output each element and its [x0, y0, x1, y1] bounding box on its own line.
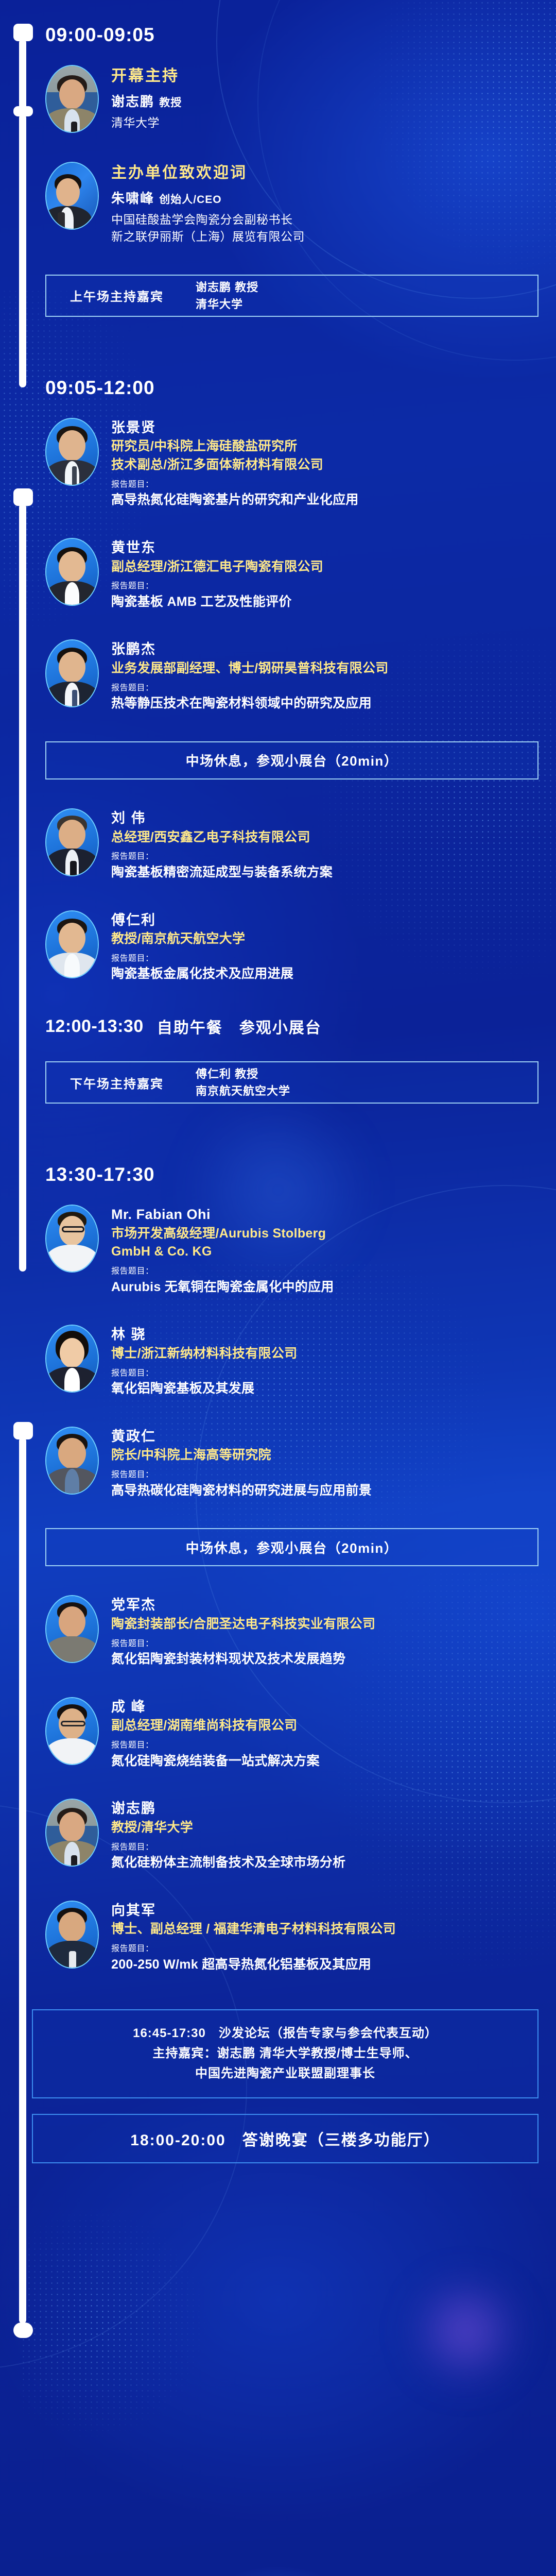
agenda-page: 09:00-09:05 开幕主持 谢志鹏 教授 清华大学	[0, 0, 556, 2205]
avatar	[45, 538, 99, 606]
agenda-item-speaker[interactable]: 向其军 博士、副总经理 / 福建华清电子材料科技有限公司 报告题目： 200-2…	[0, 1901, 556, 1974]
agenda-item-speaker[interactable]: 谢志鹏 教授/清华大学 报告题目： 氮化硅粉体主流制备技术及全球市场分析	[0, 1799, 556, 1872]
portrait-fabian-ohi	[46, 1206, 98, 1272]
lunch-label: 自助午餐 参观小展台	[157, 1015, 322, 1038]
talk-title: 陶瓷基板金属化技术及应用进展	[111, 965, 535, 983]
portrait-linxiao	[46, 1326, 98, 1392]
talk-title: 高导热氮化硅陶瓷基片的研究和产业化应用	[111, 492, 535, 509]
opening-speaker-suffix: 创始人/CEO	[159, 194, 221, 206]
break-box[interactable]: 中场休息，参观小展台（20min）	[45, 741, 538, 779]
timeline-rail	[19, 114, 26, 387]
timeline-end-cap	[13, 2323, 33, 2338]
bottom-light-fan	[196, 2567, 360, 2576]
agenda-item-text: 刘 伟 总经理/西安鑫乙电子科技有限公司 报告题目： 陶瓷基板精密流延成型与装备…	[111, 808, 535, 882]
agenda-item-text: 开幕主持 谢志鹏 教授 清华大学	[111, 65, 535, 133]
avatar	[45, 1427, 99, 1495]
portrait-zhangpengjie	[46, 640, 98, 706]
talk-title: 热等静压技术在陶瓷材料领域中的研究及应用	[111, 695, 535, 713]
agenda-item-speaker[interactable]: Mr. Fabian Ohi 市场开发高级经理/Aurubis Stolberg…	[0, 1205, 556, 1296]
afternoon-chair-box[interactable]: 下午场主持嘉宾 傅仁利 教授 南京航天航空大学	[45, 1061, 538, 1104]
afternoon-chair-label: 下午场主持嘉宾	[70, 1074, 164, 1092]
talk-title: 氮化铝陶瓷封装材料现状及技术发展趋势	[111, 1651, 535, 1668]
timeline-start-cap	[13, 488, 33, 506]
afternoon-chair-info: 傅仁利 教授 南京航天航空大学	[196, 1065, 290, 1099]
agenda-item-text: 傅仁利 教授/南京航天航空大学 报告题目： 陶瓷基板金属化技术及应用进展	[111, 910, 535, 984]
avatar	[45, 1325, 99, 1393]
talk-label: 报告题目：	[111, 1740, 535, 1751]
agenda-item-speaker[interactable]: 黄世东 副总经理/浙江德汇电子陶瓷有限公司 报告题目： 陶瓷基板 AMB 工艺及…	[0, 538, 556, 611]
speaker-name: 黄政仁	[111, 1428, 535, 1446]
break-box[interactable]: 中场休息，参观小展台（20min）	[45, 1528, 538, 1566]
salon-line-2: 主持嘉宾：谢志鹏 清华大学教授/博士生导师、	[43, 2044, 527, 2064]
talk-title: 氮化硅陶瓷烧结装备一站式解决方案	[111, 1753, 535, 1770]
talk-label: 报告题目：	[111, 1368, 535, 1379]
opening-title: 主办单位致欢迎词	[111, 163, 535, 183]
speaker-role-line2: GmbH & Co. KG	[111, 1243, 535, 1261]
avatar	[45, 65, 99, 133]
avatar	[45, 1799, 99, 1867]
timeline-start-cap	[13, 24, 33, 41]
talk-title: Aurubis 无氧铜在陶瓷金属化中的应用	[111, 1279, 535, 1296]
agenda-item-speaker[interactable]: 傅仁利 教授/南京航天航空大学 报告题目： 陶瓷基板金属化技术及应用进展	[0, 910, 556, 984]
agenda-item-speaker[interactable]: 张景贤 研究员/中科院上海硅酸盐研究所 技术副总/浙江多面体新材料有限公司 报告…	[0, 418, 556, 509]
speaker-role-line1: 副总经理/浙江德汇电子陶瓷有限公司	[111, 558, 535, 576]
talk-title: 200-250 W/mk 超高导热氮化铝基板及其应用	[111, 1956, 535, 1974]
portrait-xiangqijun	[46, 1902, 98, 1968]
session-time: 09:05-12:00	[45, 377, 155, 399]
avatar	[45, 418, 99, 486]
agenda-item-speaker[interactable]: 刘 伟 总经理/西安鑫乙电子科技有限公司 报告题目： 陶瓷基板精密流延成型与装备…	[0, 808, 556, 882]
opening-speaker-name: 朱啸峰 创始人/CEO	[111, 188, 535, 207]
avatar	[45, 1595, 99, 1663]
speaker-role-line1: 总经理/西安鑫乙电子科技有限公司	[111, 829, 535, 846]
speaker-role-line1: 副总经理/湖南维尚科技有限公司	[111, 1717, 535, 1735]
speaker-name: 刘 伟	[111, 809, 535, 828]
salon-line-3: 中国先进陶瓷产业联盟副理事长	[43, 2064, 527, 2084]
portrait-xiezhipeng	[46, 66, 98, 132]
opening-title: 开幕主持	[111, 66, 535, 86]
speaker-role-line1: 院长/中科院上海高等研究院	[111, 1447, 535, 1464]
speaker-name: 黄世东	[111, 539, 535, 557]
talk-title: 高导热碳化硅陶瓷材料的研究进展与应用前景	[111, 1482, 535, 1500]
talk-label: 报告题目：	[111, 1943, 535, 1955]
afternoon-chair-org: 南京航天航空大学	[196, 1082, 290, 1099]
timeline-rail	[19, 504, 26, 1272]
portrait-huangshidong	[46, 539, 98, 605]
avatar	[45, 639, 99, 707]
lunch-time: 12:00-13:30	[45, 1016, 144, 1037]
session-time: 09:00-09:05	[45, 24, 155, 46]
avatar	[45, 808, 99, 876]
portrait-zhuxiaofeng	[46, 163, 98, 229]
lunch-row: 12:00-13:30 自助午餐 参观小展台	[0, 1012, 556, 1041]
opening-speaker-org-line1: 中国硅酸盐学会陶瓷分会副秘书长	[111, 211, 535, 228]
avatar	[45, 1697, 99, 1765]
salon-forum-box[interactable]: 16:45-17:30 沙发论坛（报告专家与参会代表互动） 主持嘉宾：谢志鹏 清…	[32, 2009, 538, 2098]
talk-label: 报告题目：	[111, 683, 535, 694]
session-time: 13:30-17:30	[45, 1164, 155, 1185]
agenda-item-text: 林 骁 博士/浙江新纳材料科技有限公司 报告题目： 氧化铝陶瓷基板及其发展	[111, 1325, 535, 1398]
avatar	[45, 910, 99, 978]
speaker-role-line1: 博士/浙江新纳材料科技有限公司	[111, 1345, 535, 1363]
agenda-item-text: 谢志鹏 教授/清华大学 报告题目： 氮化硅粉体主流制备技术及全球市场分析	[111, 1799, 535, 1872]
talk-title: 陶瓷基板 AMB 工艺及性能评价	[111, 594, 535, 611]
agenda-item-opening-host[interactable]: 开幕主持 谢志鹏 教授 清华大学	[0, 65, 556, 133]
speaker-name: 党军杰	[111, 1596, 535, 1615]
agenda-item-text: 张鹏杰 业务发展部副经理、博士/钢研昊普科技有限公司 报告题目： 热等静压技术在…	[111, 639, 535, 713]
portrait-chengfeng	[46, 1698, 98, 1764]
timeline-rail	[19, 39, 26, 110]
portrait-xiezhipeng	[46, 1800, 98, 1866]
talk-label: 报告题目：	[111, 1638, 535, 1650]
speaker-name: 林 骁	[111, 1326, 535, 1344]
agenda-item-text: Mr. Fabian Ohi 市场开发高级经理/Aurubis Stolberg…	[111, 1205, 535, 1296]
opening-speaker-org-line2: 新之联伊丽斯（上海）展览有限公司	[111, 228, 535, 245]
portrait-zhangjingxian	[46, 419, 98, 485]
opening-speaker-org: 清华大学	[111, 114, 535, 131]
morning-chair-label: 上午场主持嘉宾	[70, 286, 164, 304]
talk-label: 报告题目：	[111, 953, 535, 964]
dinner-box[interactable]: 18:00-20:00 答谢晚宴（三楼多功能厅）	[32, 2114, 538, 2163]
agenda-item-speaker[interactable]: 张鹏杰 业务发展部副经理、博士/钢研昊普科技有限公司 报告题目： 热等静压技术在…	[0, 639, 556, 713]
agenda-item-text: 黄政仁 院长/中科院上海高等研究院 报告题目： 高导热碳化硅陶瓷材料的研究进展与…	[111, 1427, 535, 1500]
purple-glow	[407, 2277, 525, 2385]
talk-title: 氮化硅粉体主流制备技术及全球市场分析	[111, 1854, 535, 1872]
afternoon-chair-name: 傅仁利 教授	[196, 1065, 290, 1082]
agenda-item-text: 黄世东 副总经理/浙江德汇电子陶瓷有限公司 报告题目： 陶瓷基板 AMB 工艺及…	[111, 538, 535, 611]
opening-speaker-name: 谢志鹏 教授	[111, 91, 535, 110]
talk-title: 陶瓷基板精密流延成型与装备系统方案	[111, 864, 535, 882]
agenda-item-speaker[interactable]: 党军杰 陶瓷封装部长/合肥圣达电子科技实业有限公司 报告题目： 氮化铝陶瓷封装材…	[0, 1595, 556, 1668]
session-time-heading: 13:30-17:30	[0, 1160, 556, 1189]
session-time-heading: 09:05-12:00	[0, 374, 556, 402]
avatar	[45, 162, 99, 230]
speaker-role-line2: 技术副总/浙江多面体新材料有限公司	[111, 456, 535, 474]
speaker-name: 傅仁利	[111, 911, 535, 930]
portrait-liuwei	[46, 809, 98, 875]
morning-chair-org: 清华大学	[196, 296, 258, 313]
timeline-start-cap	[13, 1422, 33, 1439]
speaker-role-line1: 教授/南京航天航空大学	[111, 930, 535, 948]
agenda-item-speaker[interactable]: 林 骁 博士/浙江新纳材料科技有限公司 报告题目： 氧化铝陶瓷基板及其发展	[0, 1325, 556, 1398]
talk-label: 报告题目：	[111, 1266, 535, 1277]
morning-chair-box[interactable]: 上午场主持嘉宾 谢志鹏 教授 清华大学	[45, 275, 538, 317]
salon-line-1: 16:45-17:30 沙发论坛（报告专家与参会代表互动）	[43, 2024, 527, 2044]
talk-label: 报告题目：	[111, 1842, 535, 1853]
speaker-name: 成 峰	[111, 1698, 535, 1717]
agenda-item-text: 主办单位致欢迎词 朱啸峰 创始人/CEO 中国硅酸盐学会陶瓷分会副秘书长 新之联…	[111, 162, 535, 246]
speaker-role-line1: 业务发展部副经理、博士/钢研昊普科技有限公司	[111, 660, 535, 677]
morning-chair-info: 谢志鹏 教授 清华大学	[196, 279, 258, 313]
speaker-role-line1: 教授/清华大学	[111, 1819, 535, 1837]
session-time-heading: 09:00-09:05	[0, 21, 556, 49]
speaker-name: Mr. Fabian Ohi	[111, 1206, 535, 1224]
agenda-item-text: 张景贤 研究员/中科院上海硅酸盐研究所 技术副总/浙江多面体新材料有限公司 报告…	[111, 418, 535, 509]
timeline-node	[13, 106, 33, 116]
opening-speaker-suffix: 教授	[159, 97, 182, 109]
talk-title: 氧化铝陶瓷基板及其发展	[111, 1380, 535, 1398]
avatar	[45, 1901, 99, 1969]
speaker-role-line1: 研究员/中科院上海硅酸盐研究所	[111, 438, 535, 455]
dot-pattern	[21, 2190, 227, 2458]
agenda-item-text: 向其军 博士、副总经理 / 福建华清电子材料科技有限公司 报告题目： 200-2…	[111, 1901, 535, 1974]
agenda-item-text: 党军杰 陶瓷封装部长/合肥圣达电子科技实业有限公司 报告题目： 氮化铝陶瓷封装材…	[111, 1595, 535, 1668]
timeline-rail	[19, 1437, 26, 2324]
agenda-item-text: 成 峰 副总经理/湖南维尚科技有限公司 报告题目： 氮化硅陶瓷烧结装备一站式解决…	[111, 1697, 535, 1770]
speaker-name: 张景贤	[111, 419, 535, 437]
morning-chair-name: 谢志鹏 教授	[196, 279, 258, 296]
portrait-dangjunjie	[46, 1596, 98, 1662]
talk-label: 报告题目：	[111, 851, 535, 862]
speaker-name: 向其军	[111, 1902, 535, 1920]
speaker-role-line1: 陶瓷封装部长/合肥圣达电子科技实业有限公司	[111, 1616, 535, 1633]
talk-label: 报告题目：	[111, 479, 535, 490]
agenda-item-speaker[interactable]: 黄政仁 院长/中科院上海高等研究院 报告题目： 高导热碳化硅陶瓷材料的研究进展与…	[0, 1427, 556, 1500]
dinner-text: 18:00-20:00 答谢晚宴（三楼多功能厅）	[130, 2127, 440, 2150]
speaker-role-line1: 博士、副总经理 / 福建华清电子材料科技有限公司	[111, 1921, 535, 1938]
speaker-name: 张鹏杰	[111, 640, 535, 659]
speaker-name: 谢志鹏	[111, 1800, 535, 1818]
portrait-huangzhengren	[46, 1428, 98, 1494]
speaker-role-line1: 市场开发高级经理/Aurubis Stolberg	[111, 1225, 535, 1243]
talk-label: 报告题目：	[111, 581, 535, 592]
avatar	[45, 1205, 99, 1273]
break-text: 中场休息，参观小展台（20min）	[186, 751, 398, 770]
talk-label: 报告题目：	[111, 1469, 535, 1481]
agenda-item-speaker[interactable]: 成 峰 副总经理/湖南维尚科技有限公司 报告题目： 氮化硅陶瓷烧结装备一站式解决…	[0, 1697, 556, 1770]
portrait-furenli	[46, 911, 98, 977]
break-text: 中场休息，参观小展台（20min）	[186, 1538, 398, 1557]
agenda-item-welcome-speech[interactable]: 主办单位致欢迎词 朱啸峰 创始人/CEO 中国硅酸盐学会陶瓷分会副秘书长 新之联…	[0, 162, 556, 246]
